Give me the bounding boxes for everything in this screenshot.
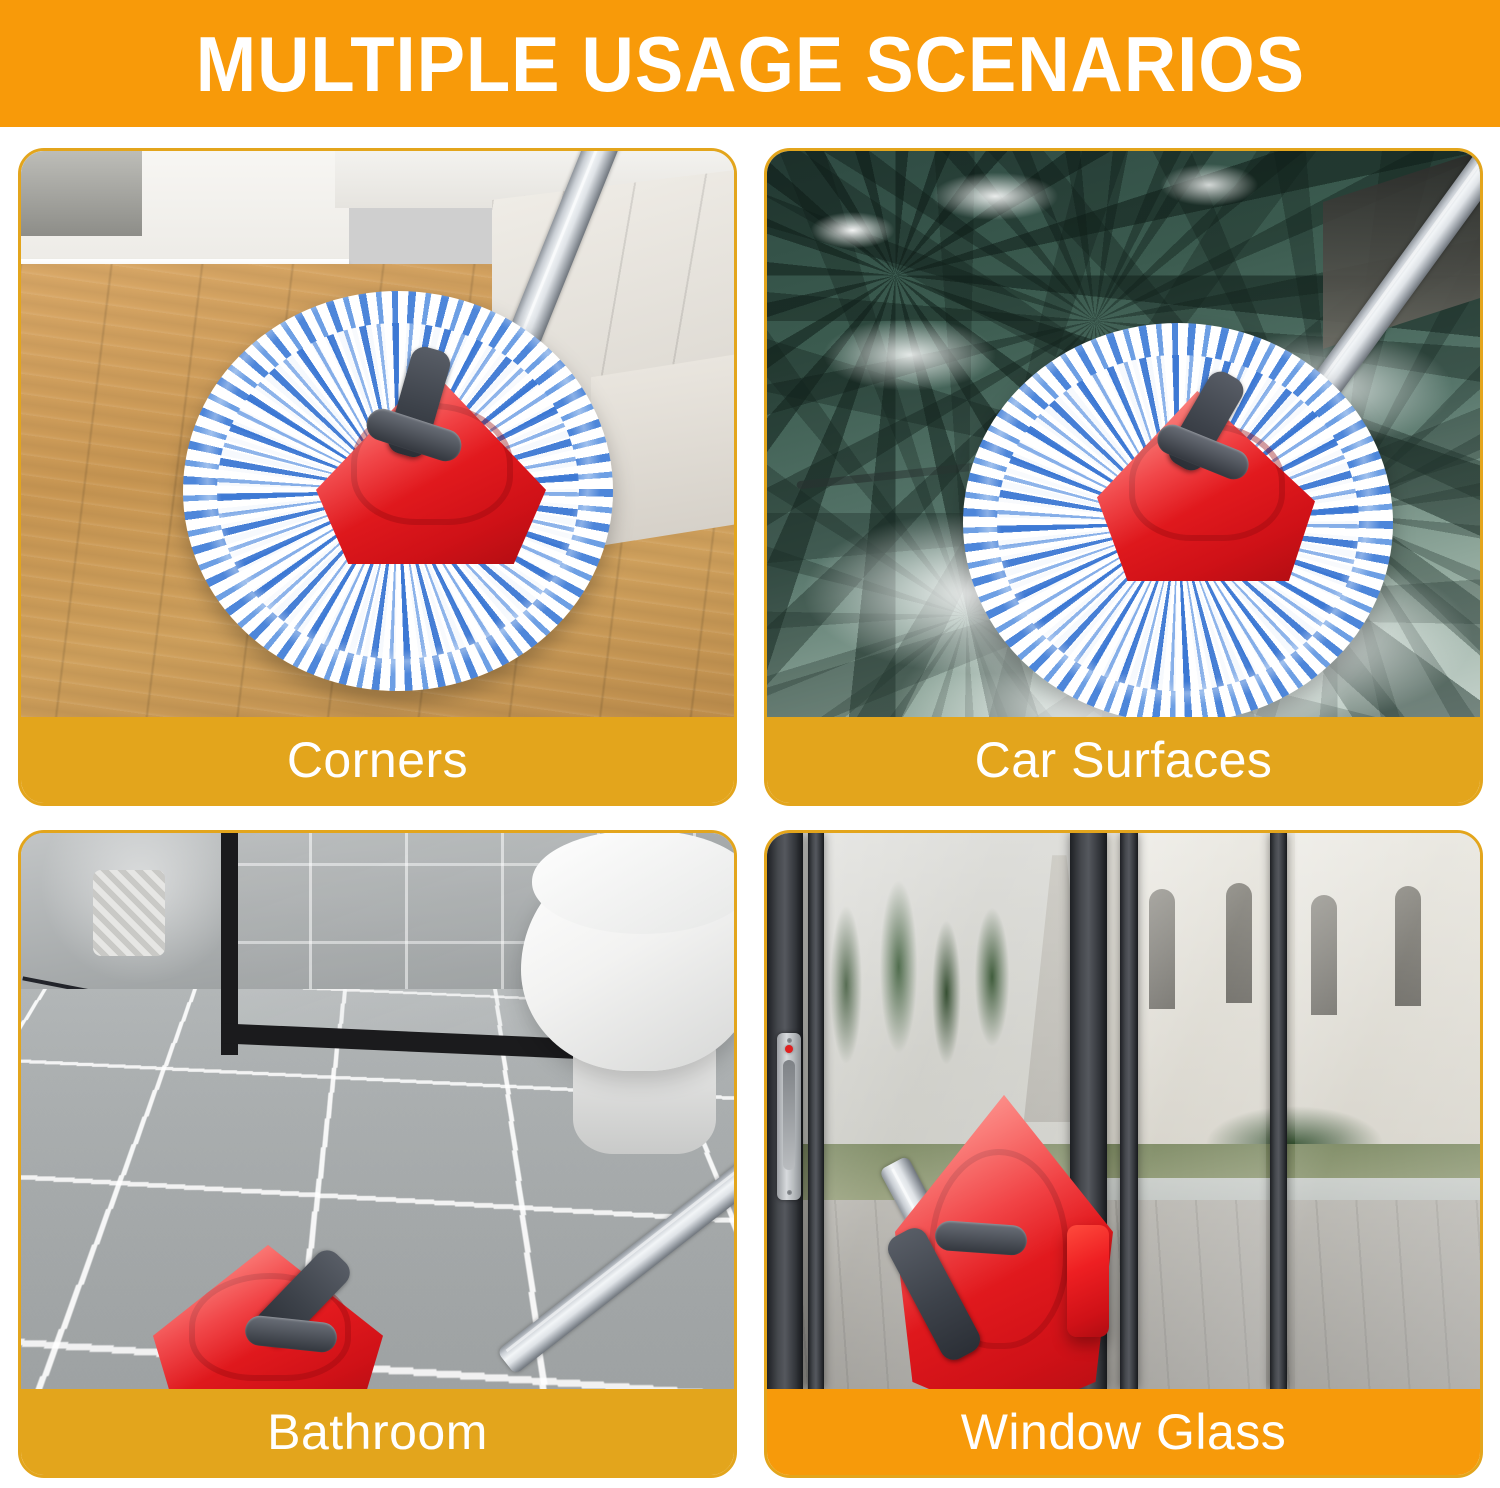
mirror-panel bbox=[21, 833, 221, 1000]
scenario-cell-car-surfaces: Car Surfaces bbox=[764, 148, 1483, 806]
photo-window-glass bbox=[767, 833, 1480, 1389]
building-window bbox=[1395, 886, 1421, 1006]
panel-corners[interactable]: Corners bbox=[18, 148, 737, 806]
lock-slot bbox=[783, 1060, 795, 1170]
cypress-trees bbox=[796, 844, 1024, 1100]
reflected-object bbox=[93, 870, 165, 957]
lock-screw-bottom bbox=[787, 1190, 792, 1195]
photo-car-surfaces bbox=[767, 151, 1480, 717]
swivel-pin bbox=[934, 1220, 1028, 1256]
panel-window-glass[interactable]: Window Glass bbox=[764, 830, 1483, 1478]
photo-corners bbox=[21, 151, 734, 717]
building-window bbox=[1311, 895, 1337, 1015]
shower-door-frame bbox=[221, 833, 238, 1055]
scenario-grid: Corners bbox=[18, 148, 1483, 1478]
caption-car-surfaces: Car Surfaces bbox=[767, 717, 1480, 803]
light-floor-patch-2 bbox=[591, 355, 734, 547]
page-title: MULTIPLE USAGE SCENARIOS bbox=[195, 25, 1304, 103]
door-lock-plate[interactable] bbox=[777, 1033, 801, 1200]
caption-bathroom: Bathroom bbox=[21, 1389, 734, 1475]
red-head-side-tab bbox=[1067, 1225, 1109, 1337]
building-window bbox=[1149, 889, 1175, 1009]
caption-corners: Corners bbox=[21, 717, 734, 803]
lock-indicator-dot bbox=[785, 1045, 793, 1053]
door-mullion bbox=[808, 833, 824, 1389]
building-window bbox=[1226, 883, 1252, 1003]
lock-screw-top bbox=[787, 1038, 792, 1043]
door-mullion bbox=[1120, 833, 1139, 1389]
caption-window-glass: Window Glass bbox=[767, 1389, 1480, 1475]
scenario-cell-window-glass: Window Glass bbox=[764, 830, 1483, 1478]
scenario-cell-corners: Corners bbox=[18, 148, 737, 806]
door-mullion bbox=[1270, 833, 1287, 1389]
panel-bathroom[interactable]: Bathroom bbox=[18, 830, 737, 1478]
panel-car-surfaces[interactable]: Car Surfaces bbox=[764, 148, 1483, 806]
scenario-cell-bathroom: Bathroom bbox=[18, 830, 737, 1478]
toilet bbox=[506, 833, 734, 1161]
header-banner: MULTIPLE USAGE SCENARIOS bbox=[0, 0, 1500, 127]
photo-bathroom bbox=[21, 833, 734, 1389]
door-gap bbox=[21, 151, 142, 236]
